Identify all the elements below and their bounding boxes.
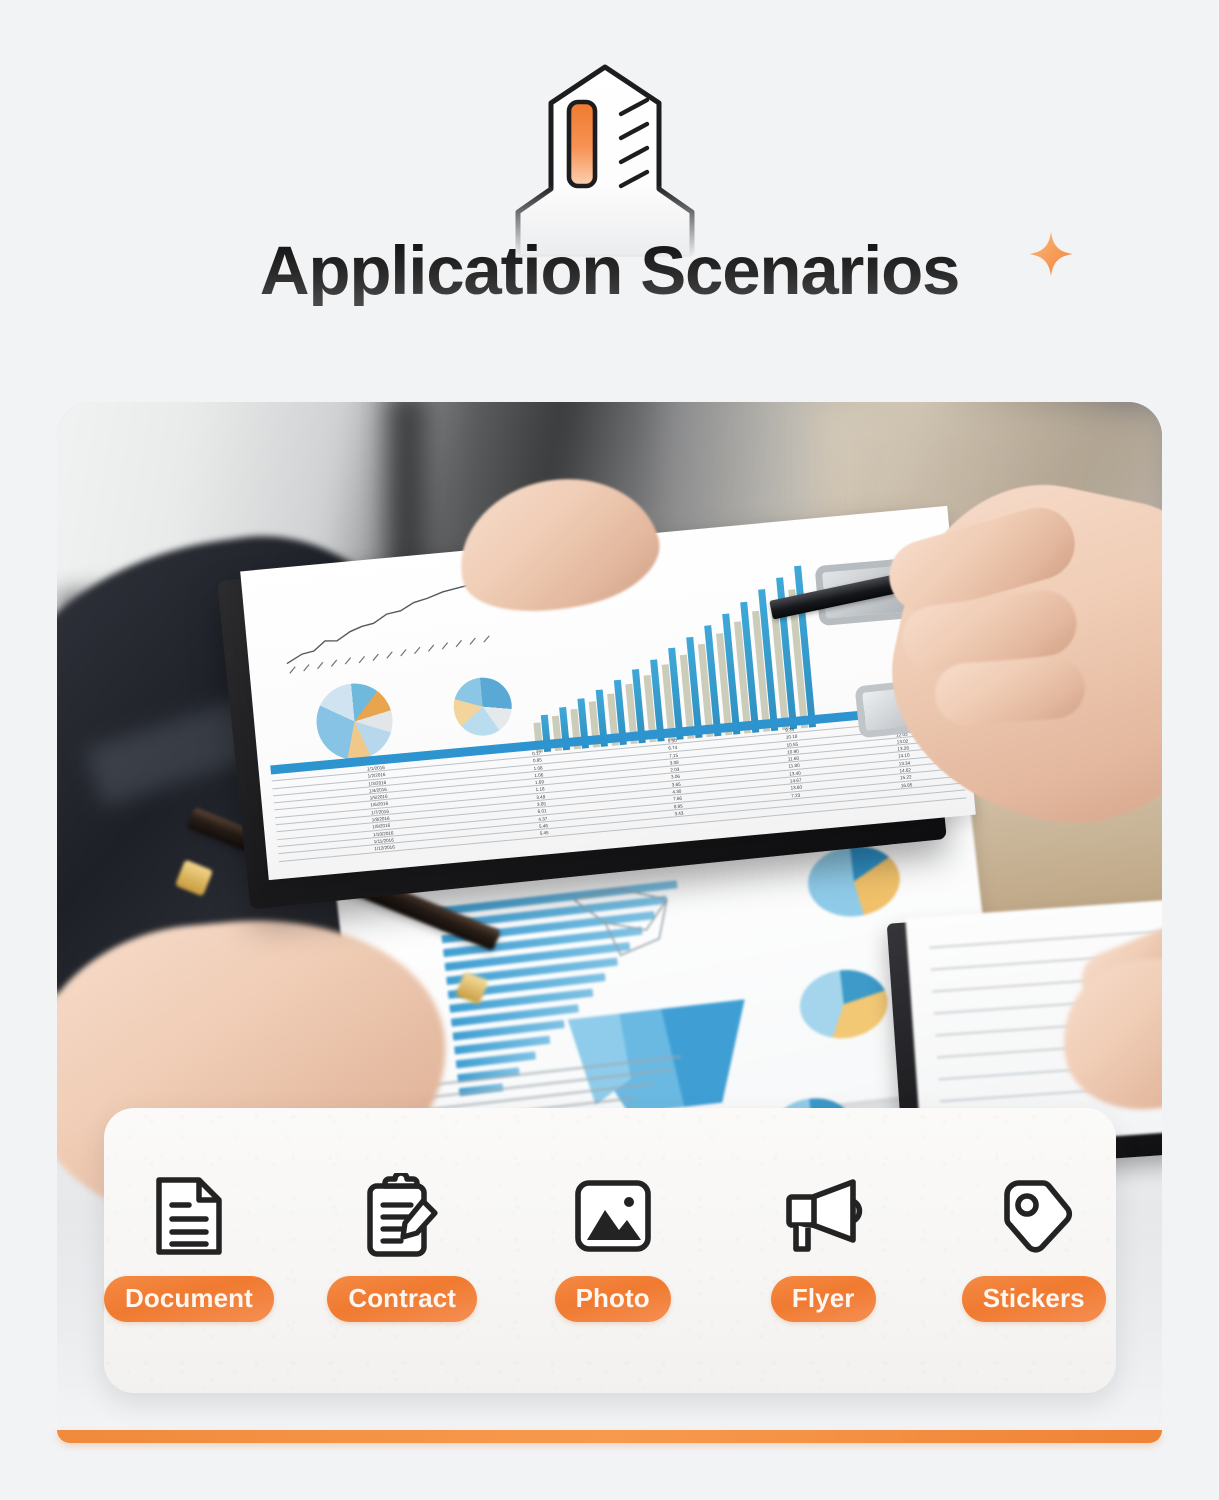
image-icon (573, 1170, 653, 1262)
badge-stickers[interactable]: Stickers (951, 1170, 1116, 1322)
middle-finger (933, 655, 1087, 727)
badge-photo[interactable]: Photo (530, 1170, 695, 1322)
pie-chart-b (451, 675, 514, 738)
pie-chart-a (313, 680, 396, 763)
megaphone-icon (781, 1170, 865, 1262)
badge-contract[interactable]: Contract (320, 1170, 485, 1322)
page-header: Application Scenarios (0, 0, 1219, 385)
application-scenario-badges: Document Contract (104, 1108, 1116, 1393)
building-skyscraper-icon (497, 62, 712, 257)
badge-label: Contract (327, 1276, 477, 1322)
sheet-pie-chart-1 (804, 841, 903, 921)
business-meeting-photo: 1/1/20160.175.509.356.62 1/2/20160.956.7… (57, 402, 1162, 1442)
clipboard-pencil-icon (363, 1170, 441, 1262)
page-title: Application Scenarios (260, 236, 959, 306)
badge-label: Document (104, 1276, 274, 1322)
document-icon (153, 1170, 225, 1262)
badge-flyer[interactable]: Flyer (741, 1170, 906, 1322)
network-diagram (567, 874, 706, 978)
badge-label: Flyer (771, 1276, 876, 1322)
sheet-pie-chart-2 (796, 965, 891, 1043)
badge-label: Photo (555, 1276, 671, 1322)
orange-accent-bar (57, 1430, 1162, 1443)
sparkle-icon (1028, 231, 1074, 277)
badge-label: Stickers (962, 1276, 1106, 1322)
tag-icon (994, 1170, 1074, 1262)
funnel-chart (561, 995, 762, 1126)
badge-document[interactable]: Document (104, 1170, 274, 1322)
